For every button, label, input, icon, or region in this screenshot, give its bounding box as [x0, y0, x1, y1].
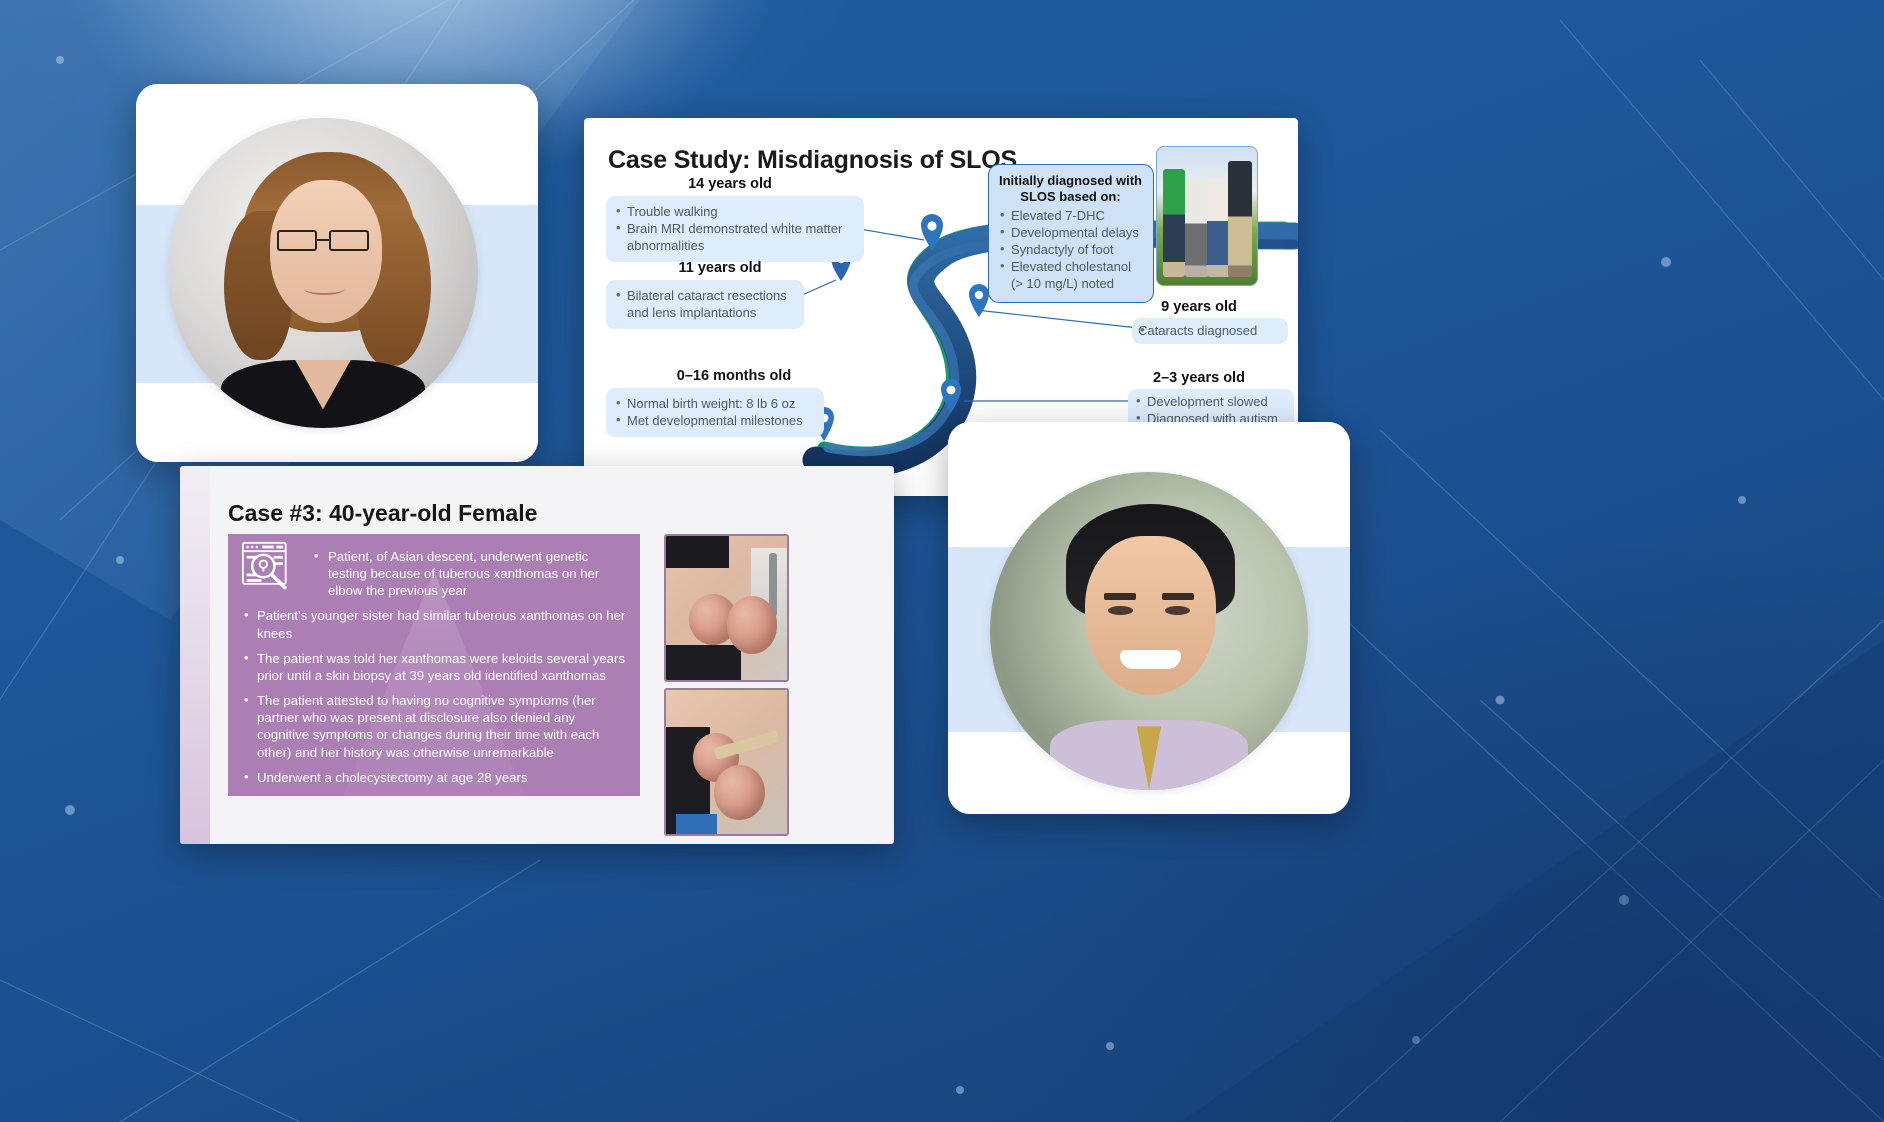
family-photo — [1156, 146, 1258, 286]
dx-bullet: Elevated 7-DHC — [998, 208, 1143, 225]
case3-bullet: The patient was told her xanthomas were … — [242, 650, 626, 684]
timeline-heading-age-14: 14 years old — [610, 176, 850, 192]
timeline-bullet: Development slowed — [1134, 393, 1286, 410]
xanthoma-lesion — [714, 765, 765, 820]
family-member — [1163, 169, 1185, 277]
case3-slide-title: Case #3: 40-year-old Female — [228, 500, 537, 527]
case3-bullet: Patient's younger sister had similar tub… — [242, 607, 626, 641]
timeline-box-age-14: Trouble walking Brain MRI demonstrated w… — [606, 196, 864, 262]
timeline-bullet: Normal birth weight: 8 lb 6 oz — [614, 395, 814, 412]
timeline-bullet: Bilateral cataract resections and lens i… — [614, 287, 794, 321]
case3-bullet-list: Patient, of Asian descent, underwent gen… — [242, 548, 626, 796]
timeline-heading-age-11: 11 years old — [610, 260, 830, 276]
case3-bullet: Patient, of Asian descent, underwent gen… — [242, 548, 626, 599]
slide-left-decorative-strip — [180, 466, 210, 844]
case3-bullet: Plasma cholestanol concentration was nor… — [242, 794, 626, 796]
case3-bullet: The patient attested to having no cognit… — [242, 692, 626, 761]
timeline-bullet: Trouble walking — [614, 203, 854, 220]
family-member — [1185, 180, 1209, 277]
timeline-heading-age-0-16-months: 0–16 months old — [610, 368, 858, 384]
dx-title-line-2: SLOS based on: — [998, 189, 1143, 205]
presentation-collage-background: Case Study: Misdiagnosis of SLOS — [0, 0, 1884, 1122]
family-member — [1207, 177, 1230, 276]
speaker-photo-right — [990, 472, 1308, 790]
timeline-box-age-11: Bilateral cataract resections and lens i… — [606, 280, 804, 329]
dx-bullet: Developmental delays — [998, 225, 1143, 242]
timeline-box-age-0-16-months: Normal birth weight: 8 lb 6 oz Met devel… — [606, 388, 824, 437]
case3-bullet-panel: Patient, of Asian descent, underwent gen… — [228, 534, 640, 796]
case3-bullet: Underwent a cholecystectomy at age 28 ye… — [242, 769, 626, 786]
dx-bullet: Elevated cholestanol (> 10 mg/L) noted — [998, 259, 1143, 293]
xanthoma-lesion — [727, 596, 778, 654]
timeline-heading-age-2-3: 2–3 years old — [1104, 370, 1294, 386]
family-member — [1228, 161, 1252, 277]
dx-bullet: Syndactyly of foot — [998, 242, 1143, 259]
xanthoma-photo-top — [664, 534, 789, 682]
timeline-bullet: Brain MRI demonstrated white matter abno… — [614, 220, 854, 254]
timeline-box-age-9: Cataracts diagnosed — [1132, 318, 1288, 344]
slide-case-3[interactable]: Case #3: 40-year-old Female Pati — [180, 466, 894, 844]
initial-diagnosis-box: Initially diagnosed with SLOS based on: … — [988, 164, 1154, 303]
dx-title-line-1: Initially diagnosed with — [998, 173, 1143, 189]
speaker-card-left[interactable] — [136, 84, 538, 462]
xanthoma-photo-bottom — [664, 688, 789, 836]
timeline-bullet: Cataracts diagnosed — [1138, 322, 1280, 339]
timeline-bullet: Met developmental milestones — [614, 412, 814, 429]
speaker-photo-left — [168, 118, 478, 428]
speaker-card-right[interactable] — [948, 422, 1350, 814]
